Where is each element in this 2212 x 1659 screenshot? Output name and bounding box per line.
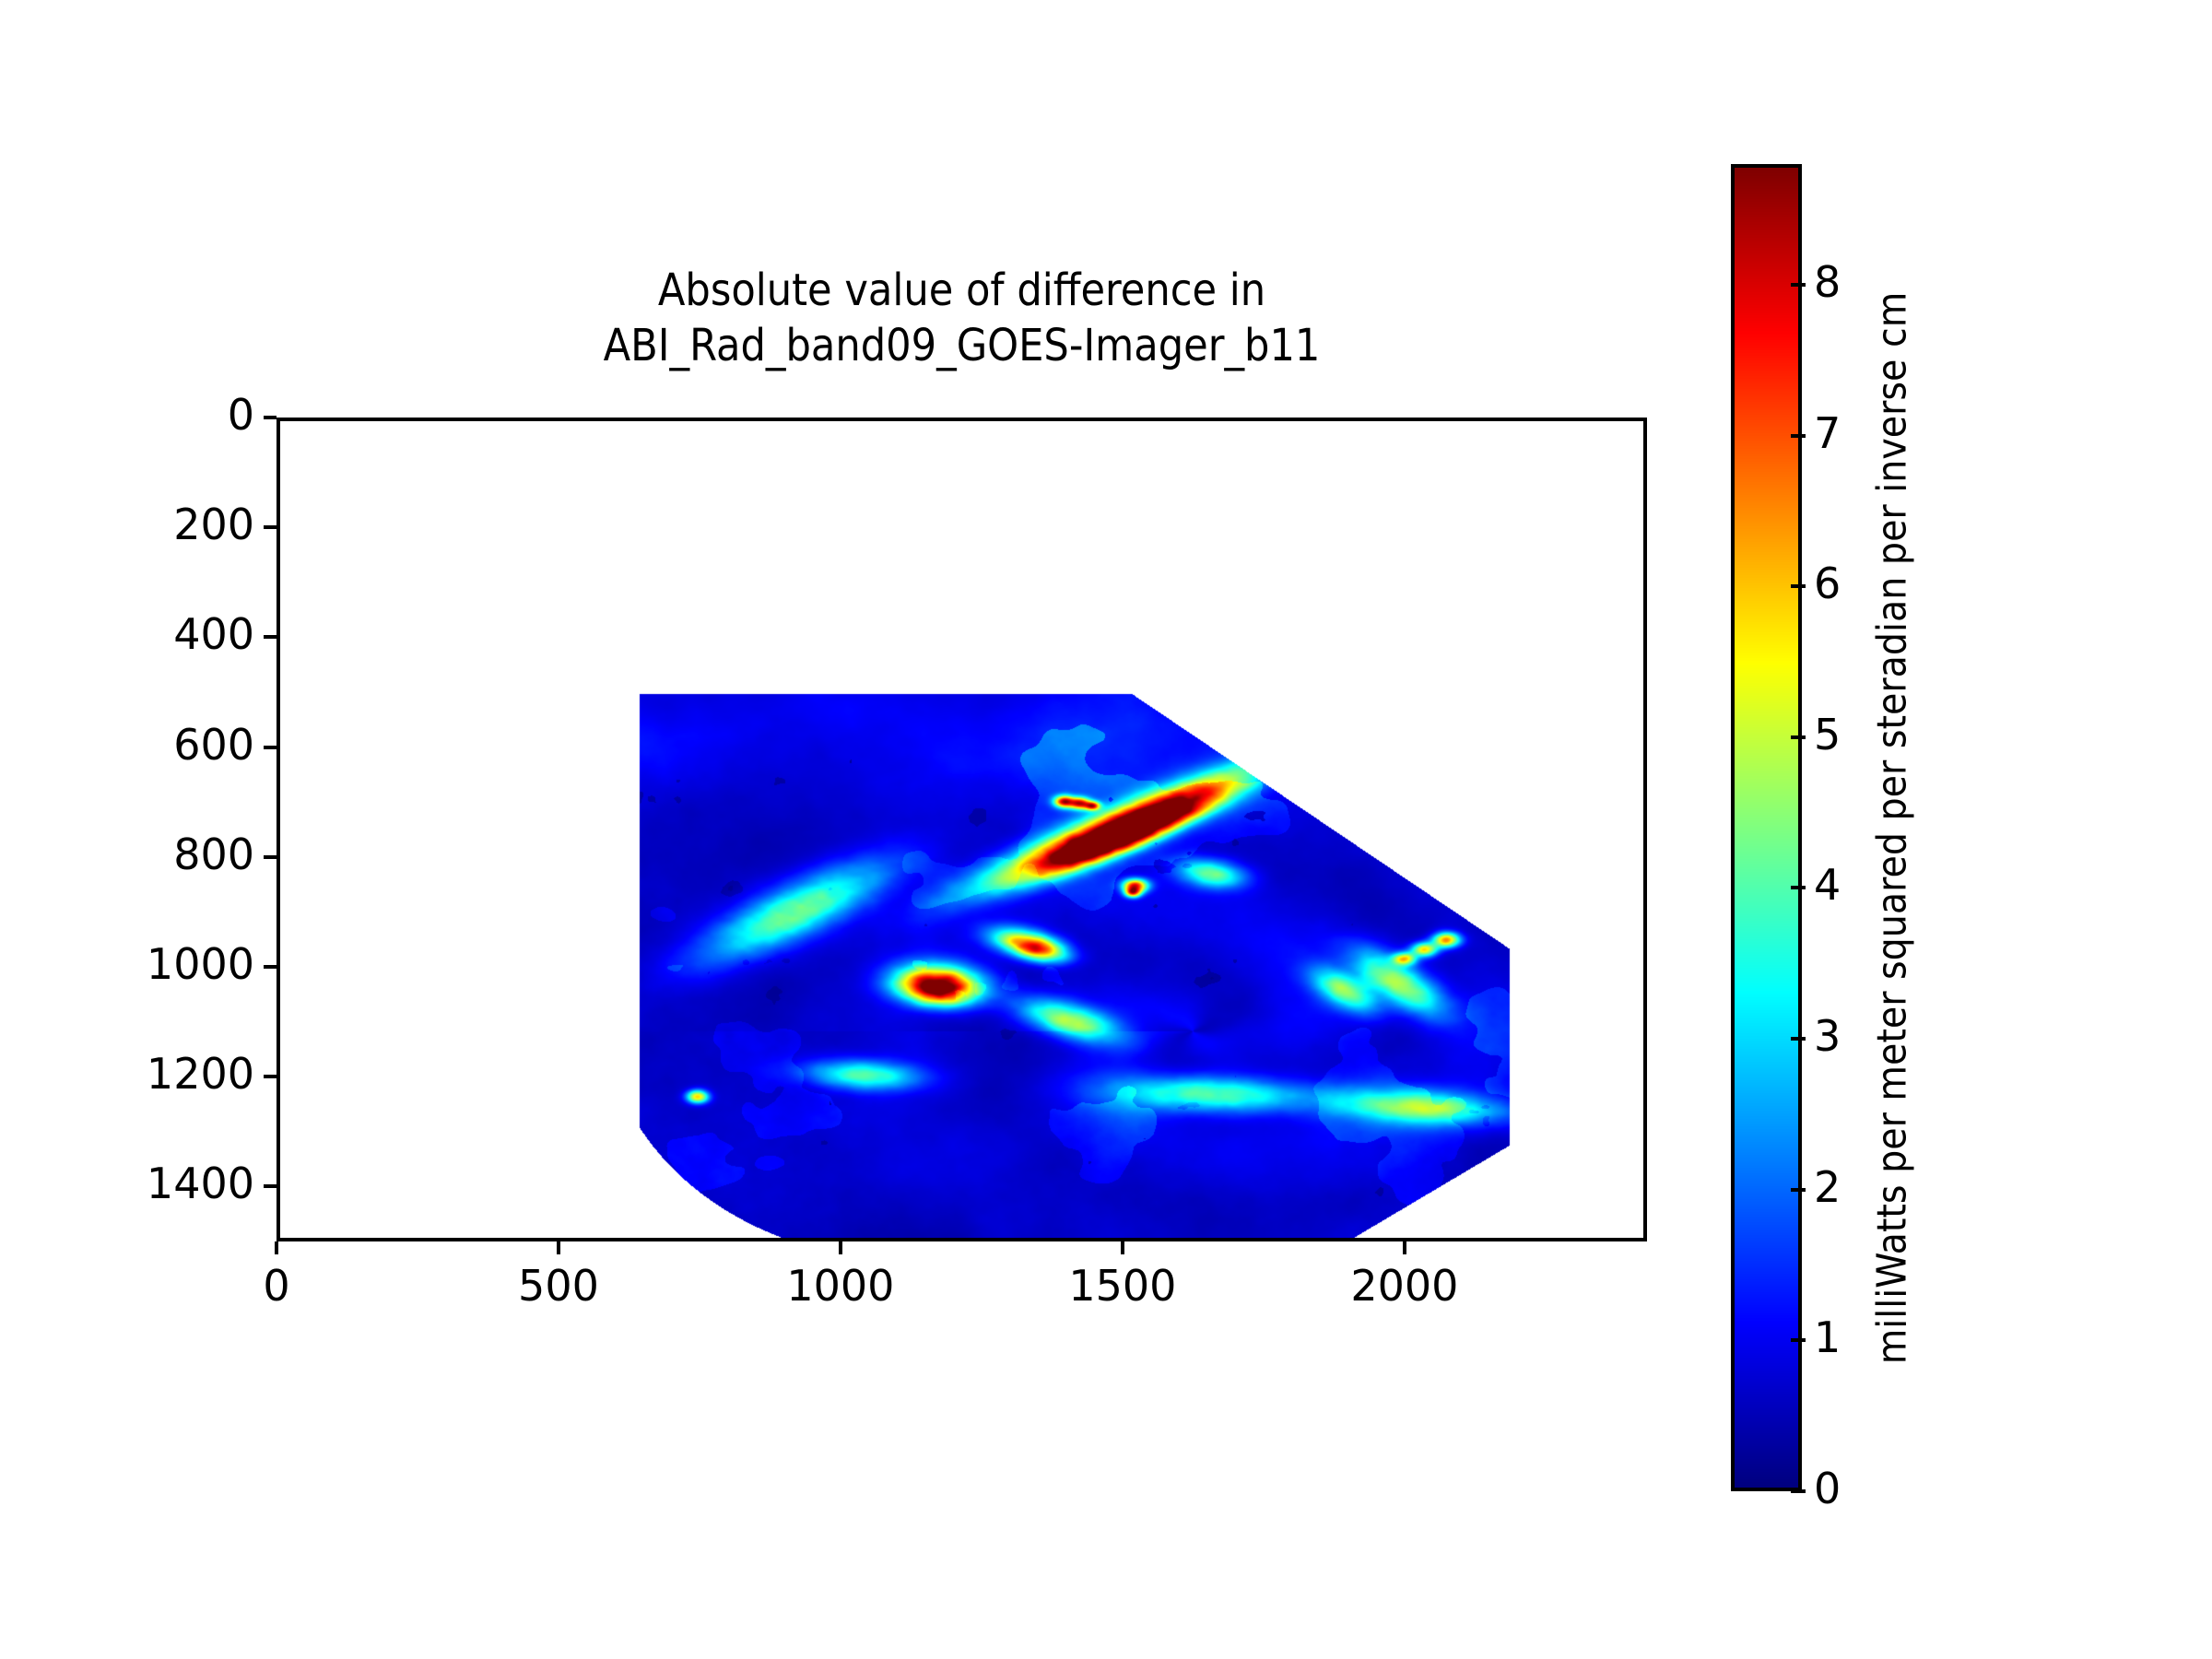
y-tick-mark: [264, 525, 276, 529]
y-tick-mark: [264, 416, 276, 419]
chart-title-line-2: ABI_Rad_band09_GOES-Imager_b11: [276, 318, 1647, 373]
colorbar: [1731, 164, 1802, 1491]
y-tick-label: 1200: [55, 1049, 254, 1099]
x-tick-mark: [1121, 1241, 1124, 1254]
colorbar-tick-label: 3: [1814, 1011, 1841, 1061]
colorbar-tick-mark: [1791, 434, 1806, 438]
colorbar-axis-label-text: milliWatts per meter squared per steradi…: [1869, 291, 1916, 1364]
y-tick-label: 800: [55, 829, 254, 879]
colorbar-tick-label: 6: [1814, 559, 1841, 608]
chart-title: Absolute value of difference in ABI_Rad_…: [276, 263, 1647, 373]
y-tick-label: 600: [55, 720, 254, 770]
y-tick-label: 400: [55, 609, 254, 659]
y-tick-label: 1000: [55, 939, 254, 989]
y-tick-label: 200: [55, 500, 254, 549]
plot-axes: [276, 418, 1647, 1241]
y-tick-label: 0: [55, 390, 254, 440]
y-tick-mark: [264, 746, 276, 749]
y-tick-mark: [264, 1184, 276, 1188]
colorbar-tick-mark: [1791, 1338, 1806, 1342]
y-tick-mark: [264, 855, 276, 859]
y-tick-mark: [264, 635, 276, 639]
x-tick-label: 500: [429, 1261, 688, 1311]
x-tick-mark: [275, 1241, 278, 1254]
colorbar-tick-mark: [1791, 1188, 1806, 1192]
colorbar-tick-label: 2: [1814, 1162, 1841, 1212]
x-tick-label: 0: [147, 1261, 406, 1311]
colorbar-gradient: [1731, 164, 1802, 1491]
colorbar-tick-mark: [1791, 1037, 1806, 1041]
x-tick-label: 2000: [1276, 1261, 1534, 1311]
y-tick-label: 1400: [55, 1159, 254, 1208]
colorbar-tick-label: 5: [1814, 710, 1841, 759]
colorbar-tick-mark: [1791, 584, 1806, 588]
colorbar-axis-label: milliWatts per meter squared per steradi…: [1864, 164, 1921, 1491]
x-tick-mark: [557, 1241, 560, 1254]
colorbar-tick-label: 8: [1814, 257, 1841, 307]
colorbar-tick-label: 7: [1814, 408, 1841, 458]
chart-title-line-1: Absolute value of difference in: [276, 263, 1647, 318]
figure-canvas: Absolute value of difference in ABI_Rad_…: [0, 0, 2212, 1659]
x-tick-label: 1000: [712, 1261, 970, 1311]
colorbar-tick-label: 4: [1814, 860, 1841, 910]
x-tick-mark: [1403, 1241, 1406, 1254]
colorbar-tick-mark: [1791, 735, 1806, 739]
colorbar-tick-mark: [1791, 886, 1806, 889]
colorbar-tick-label: 0: [1814, 1464, 1841, 1513]
x-tick-mark: [839, 1241, 842, 1254]
heatmap-image: [280, 421, 1643, 1238]
x-tick-label: 1500: [994, 1261, 1252, 1311]
colorbar-tick-mark: [1791, 1489, 1806, 1493]
y-tick-mark: [264, 1075, 276, 1078]
colorbar-canvas: [1735, 168, 1798, 1488]
colorbar-tick-label: 1: [1814, 1312, 1841, 1362]
colorbar-tick-mark: [1791, 283, 1806, 287]
y-tick-mark: [264, 965, 276, 969]
